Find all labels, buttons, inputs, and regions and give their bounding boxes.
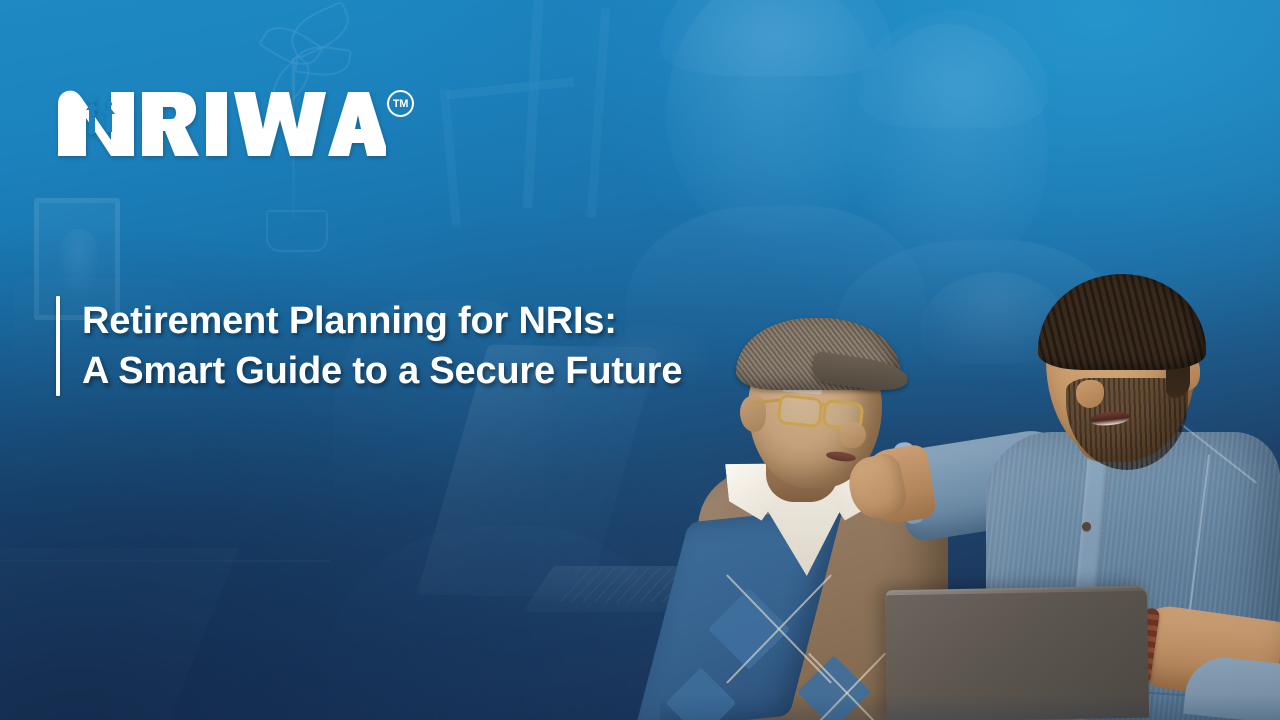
headline-line-2: A Smart Guide to a Secure Future [82,346,682,396]
nriway-logo[interactable]: TM [56,88,386,158]
headline-line-1: Retirement Planning for NRIs: [82,296,682,346]
headline-block: Retirement Planning for NRIs: A Smart Gu… [56,296,682,396]
headline-text: Retirement Planning for NRIs: A Smart Gu… [82,296,682,396]
nriway-wordmark-icon [56,88,386,158]
hero-banner: TM Retirement Planning for NRIs: A Smart… [0,0,1280,720]
trademark-icon: TM [387,90,414,117]
headline-accent-bar [56,296,60,396]
